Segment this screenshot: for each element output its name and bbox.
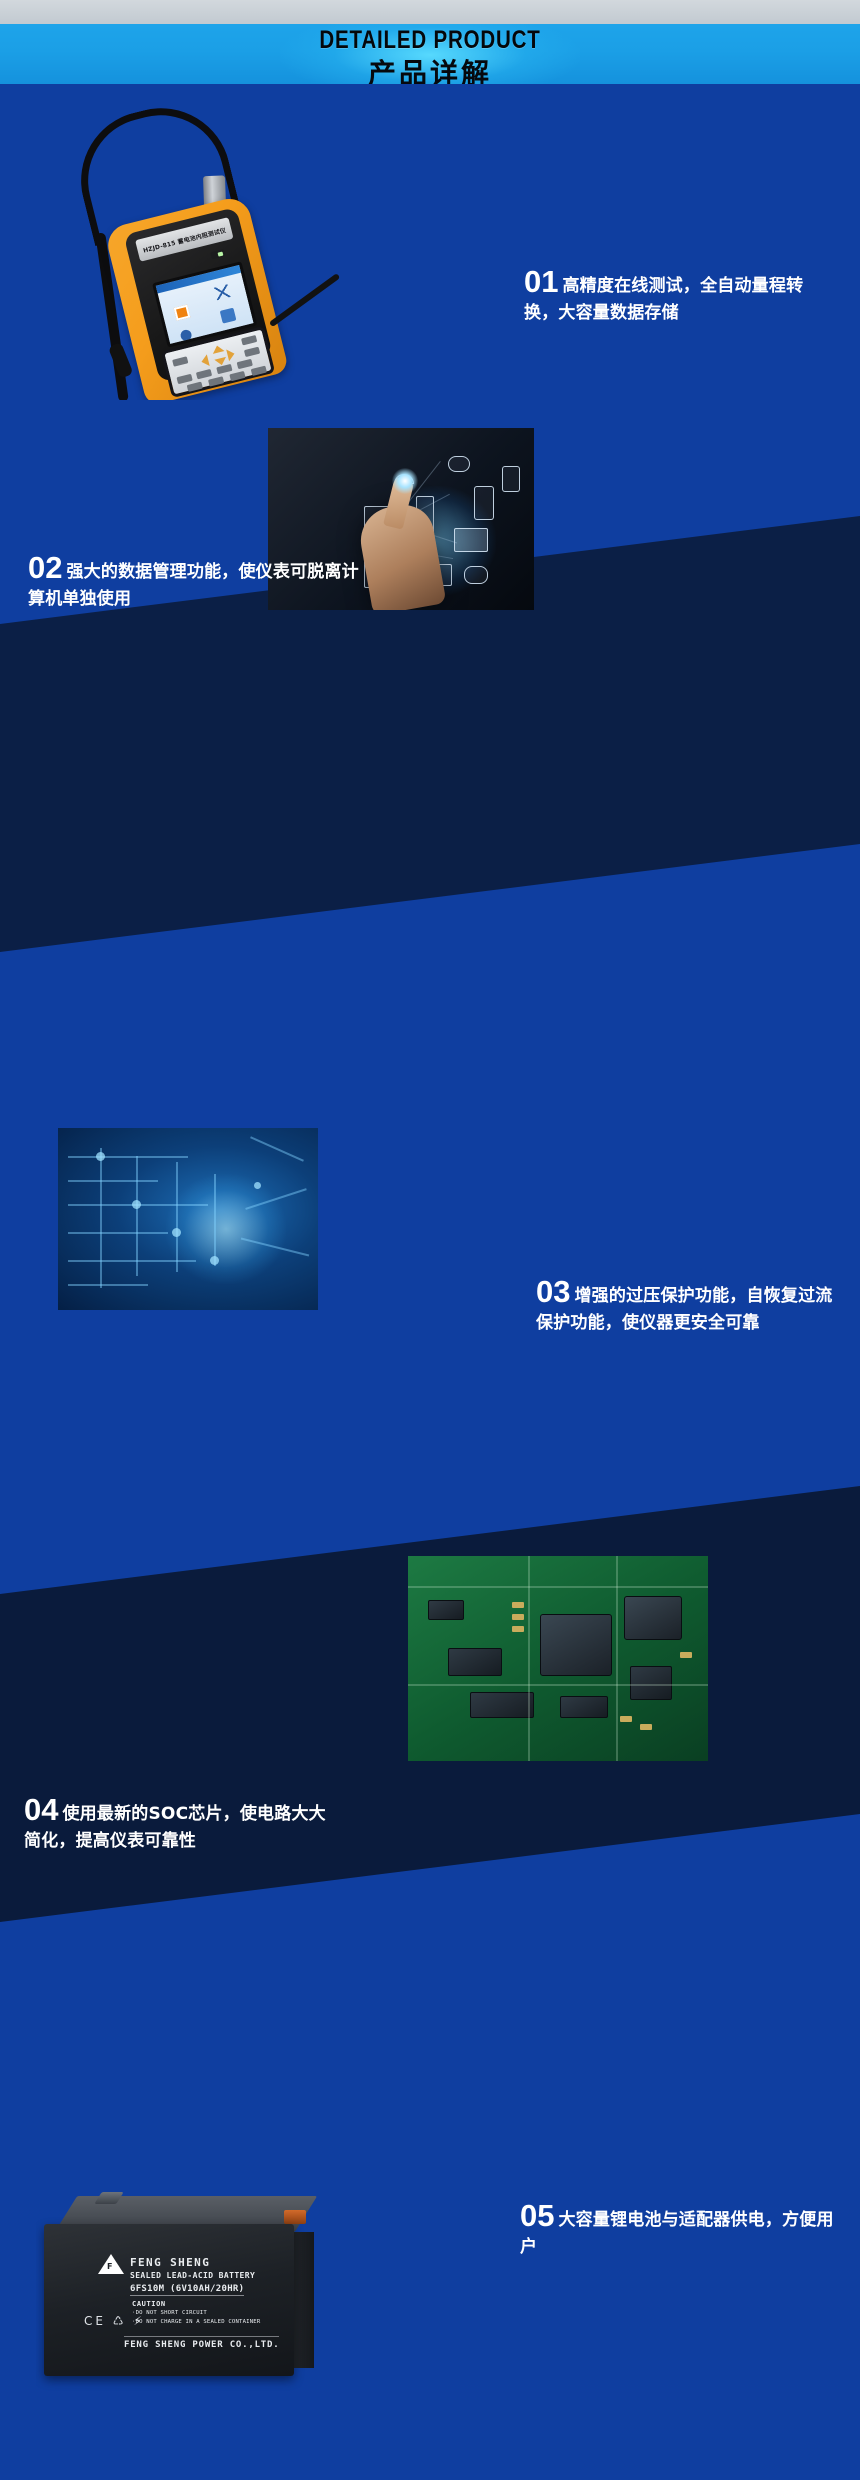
keypad-key <box>241 335 257 345</box>
feature-text-04: 使用最新的SOC芯片，使电路大大简化，提高仪表可靠性 <box>24 1804 326 1851</box>
battery-caution-title: CAUTION <box>132 2300 166 2308</box>
keypad-key <box>172 356 188 366</box>
battery-model: 6FS10M (6V10AH/20HR) <box>130 2284 244 2296</box>
smd-component <box>512 1626 524 1632</box>
ic-chip-large <box>540 1614 612 1676</box>
pcb-trace <box>408 1684 708 1686</box>
banner-title-cn: 产品详解 <box>0 52 860 84</box>
dpad-up-icon <box>211 344 224 354</box>
pcb-trace <box>408 1586 708 1588</box>
battery-company: FENG SHENG POWER CO.,LTD. <box>124 2336 279 2350</box>
feature-text-01: 高精度在线测试，全自动量程转换，大容量数据存储 <box>524 276 803 323</box>
tablet-icon <box>474 486 494 520</box>
circuit-pad <box>210 1256 219 1265</box>
top-gray-strip <box>0 0 860 24</box>
feature-block-01: 01高精度在线测试，全自动量程转换，大容量数据存储 <box>524 262 824 325</box>
feature-block-04: 04使用最新的SOC芯片，使电路大大简化，提高仪表可靠性 <box>24 1790 334 1853</box>
photo-green-pcb <box>408 1556 708 1761</box>
ic-chip <box>560 1696 608 1718</box>
phone-icon <box>502 466 520 492</box>
keypad-key <box>196 369 212 379</box>
keypad-key <box>244 347 260 357</box>
battery-brand-logo-icon: F <box>98 2254 124 2276</box>
tester-device: HZJD-815 蓄电池内阻测试仪 <box>40 90 350 400</box>
circuit-trace <box>68 1284 148 1286</box>
ic-chip <box>428 1600 464 1620</box>
feature-text-02: 强大的数据管理功能，使仪表可脱离计算机单独使用 <box>28 562 359 609</box>
pcb-trace <box>616 1556 618 1761</box>
battery-front-face <box>44 2224 294 2376</box>
device-probe-lead <box>269 273 340 327</box>
circuit-trace <box>68 1232 168 1234</box>
keypad-key <box>237 359 253 369</box>
circuit-trace <box>250 1136 304 1161</box>
keypad-key <box>229 371 245 381</box>
keypad-key <box>176 374 192 384</box>
circuit-glow <box>166 1174 286 1284</box>
screen-icon-test <box>174 305 191 321</box>
feature-number-02: 02 <box>28 550 62 585</box>
battery-type: SEALED LEAD-ACID BATTERY <box>130 2271 255 2280</box>
keypad-key <box>251 366 267 376</box>
dpad-right-icon <box>226 348 236 361</box>
feature-number-03: 03 <box>536 1274 570 1309</box>
feature-block-03: 03增强的过压保护功能，自恢复过流保护功能，使仪器更安全可靠 <box>536 1272 836 1335</box>
ic-chip <box>630 1666 672 1700</box>
battery-certification-marks: CE ♺ ⚡ <box>84 2314 145 2328</box>
circuit-trace <box>100 1148 102 1288</box>
banner-title-en: DETAILED PRODUCT <box>77 26 782 55</box>
circuit-pad <box>96 1152 105 1161</box>
circuit-trace <box>68 1156 188 1158</box>
dpad-left-icon <box>200 354 210 367</box>
feature-block-02: 02强大的数据管理功能，使仪表可脱离计算机单独使用 <box>28 548 368 611</box>
page-header-banner: DETAILED PRODUCT 产品详解 <box>0 24 860 84</box>
ic-chip <box>470 1692 534 1718</box>
screen-icon <box>454 528 488 552</box>
product-detail-page: DETAILED PRODUCT 产品详解 HZJD-815 蓄电池内阻测试仪 <box>0 0 860 2480</box>
smd-component <box>512 1602 524 1608</box>
circuit-trace <box>68 1180 158 1182</box>
battery-brand: FENG SHENG <box>130 2256 210 2269</box>
screen-icon-data <box>220 308 237 324</box>
chat-bubble-icon <box>448 456 470 472</box>
feature-block-05: 05大容量锂电池与适配器供电，方便用户 <box>520 2196 840 2259</box>
circuit-trace <box>136 1156 138 1276</box>
screen-icon-settings <box>179 329 192 342</box>
device-hand-strap <box>108 342 134 379</box>
battery-positive-terminal <box>284 2210 306 2224</box>
photo-circuit-board-blue <box>58 1128 318 1310</box>
feature-number-04: 04 <box>24 1792 58 1827</box>
photo-lead-acid-battery: F FENG SHENG SEALED LEAD-ACID BATTERY 6F… <box>36 2190 326 2398</box>
feature-text-03: 增强的过压保护功能，自恢复过流保护功能，使仪器更安全可靠 <box>536 1286 832 1333</box>
battery-warning-2: ·DO NOT CHARGE IN A SEALED CONTAINER <box>132 2319 260 2325</box>
smd-component <box>512 1614 524 1620</box>
smd-component <box>640 1724 652 1730</box>
pcb-trace <box>528 1556 530 1761</box>
keypad-key <box>208 376 224 386</box>
comment-icon <box>464 566 488 584</box>
circuit-trace <box>214 1174 216 1266</box>
keypad-key <box>187 382 203 392</box>
screen-icon-tools <box>214 284 231 300</box>
touch-glow-icon <box>392 468 418 494</box>
smd-component <box>680 1652 692 1658</box>
feature-text-05: 大容量锂电池与适配器供电，方便用户 <box>520 2210 834 2257</box>
circuit-pad <box>254 1182 261 1189</box>
ic-chip-large <box>624 1596 682 1640</box>
feature-number-01: 01 <box>524 264 558 299</box>
ic-chip <box>448 1648 502 1676</box>
photo-handheld-tester: HZJD-815 蓄电池内阻测试仪 <box>40 90 350 400</box>
smd-component <box>620 1716 632 1722</box>
feature-number-05: 05 <box>520 2198 554 2233</box>
circuit-trace <box>176 1162 178 1272</box>
circuit-pad <box>132 1200 141 1209</box>
circuit-pad <box>172 1228 181 1237</box>
